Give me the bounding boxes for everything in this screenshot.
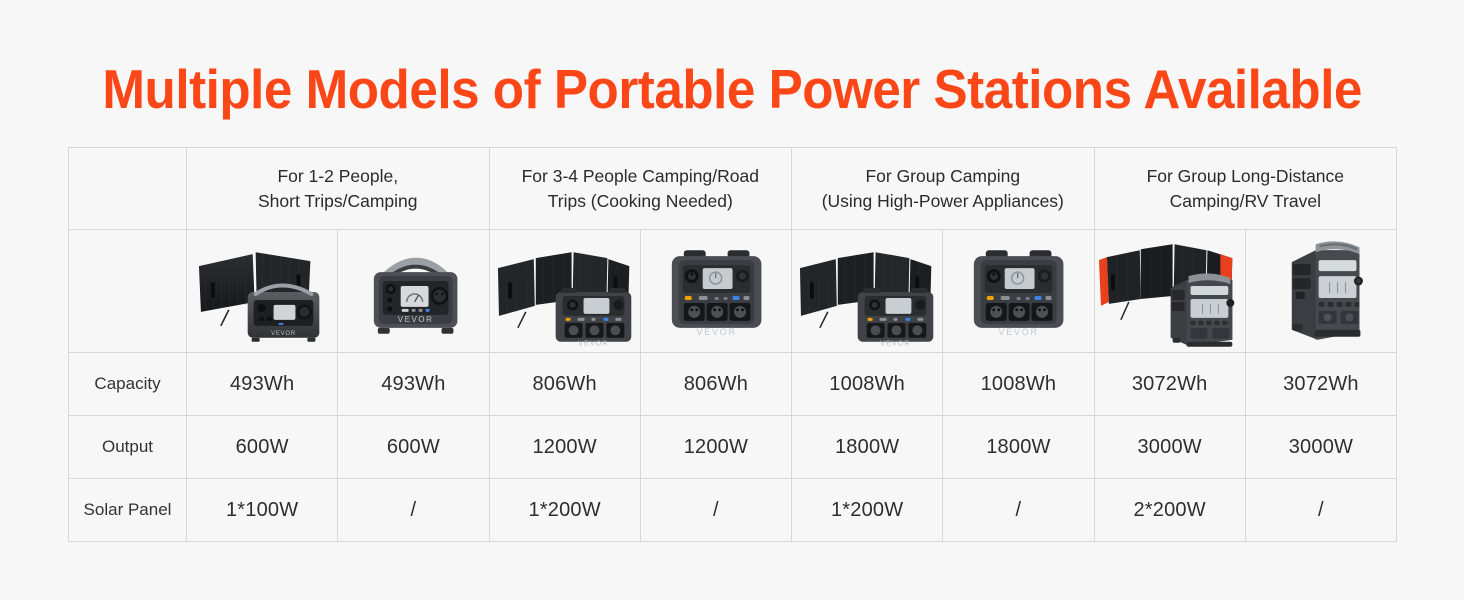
product-image-row: VEVOR — [69, 230, 1397, 353]
small-station-icon: VEVOR — [338, 230, 488, 352]
usecase-line2: Trips (Cooking Needed) — [498, 189, 784, 214]
orange-panel-and-large-station-icon — [1095, 230, 1245, 352]
solar-value-4: / — [640, 479, 791, 542]
row-label-capacity: Capacity — [69, 353, 187, 416]
product-image-1: VEVOR — [187, 230, 338, 353]
capacity-value-6: 1008Wh — [943, 353, 1094, 416]
product-image-2: VEVOR — [338, 230, 489, 353]
capacity-value-4: 806Wh — [640, 353, 791, 416]
usecase-line2: Camping/RV Travel — [1103, 189, 1389, 214]
solar-panel-row: Solar Panel 1*100W / 1*200W / 1*200W / 2… — [69, 479, 1397, 542]
mid-station-icon-2: VEVOR — [943, 230, 1093, 352]
capacity-value-1: 493Wh — [187, 353, 338, 416]
mid-station-icon: VEVOR — [641, 230, 791, 352]
usecase-line1: For 3-4 People Camping/Road — [522, 166, 759, 186]
output-row: Output 600W 600W 1200W 1200W 1800W 1800W… — [69, 416, 1397, 479]
svg-text:VEVOR: VEVOR — [578, 341, 608, 348]
output-value-5: 1800W — [792, 416, 943, 479]
solar-value-3: 1*200W — [489, 479, 640, 542]
usecase-cell-4: For Group Long-Distance Camping/RV Trave… — [1094, 148, 1397, 230]
usecase-cell-3: For Group Camping (Using High-Power Appl… — [792, 148, 1095, 230]
spec-table: For 1-2 People, Short Trips/Camping For … — [68, 147, 1397, 542]
output-value-7: 3000W — [1094, 416, 1245, 479]
svg-text:VEVOR: VEVOR — [696, 327, 736, 337]
usecase-line1: For Group Camping — [865, 166, 1020, 186]
capacity-value-2: 493Wh — [338, 353, 489, 416]
capacity-value-3: 806Wh — [489, 353, 640, 416]
solar-value-7: 2*200W — [1094, 479, 1245, 542]
solar-value-5: 1*200W — [792, 479, 943, 542]
product-image-4: VEVOR — [640, 230, 791, 353]
page-title: Multiple Models of Portable Power Statio… — [102, 58, 1362, 120]
usecase-line1: For Group Long-Distance — [1147, 166, 1344, 186]
output-value-3: 1200W — [489, 416, 640, 479]
row-label-output: Output — [69, 416, 187, 479]
table-corner-cell-2 — [69, 230, 187, 353]
svg-text:VEVOR: VEVOR — [880, 341, 910, 348]
solar-value-8: / — [1245, 479, 1396, 542]
product-image-8 — [1245, 230, 1396, 353]
svg-text:VEVOR: VEVOR — [398, 315, 434, 324]
panel-and-mid-station-icon: VEVOR — [490, 230, 640, 352]
solar-value-6: / — [943, 479, 1094, 542]
usecase-cell-1: For 1-2 People, Short Trips/Camping — [187, 148, 490, 230]
capacity-value-5: 1008Wh — [792, 353, 943, 416]
capacity-row: Capacity 493Wh 493Wh 806Wh 806Wh 1008Wh … — [69, 353, 1397, 416]
output-value-8: 3000W — [1245, 416, 1396, 479]
output-value-4: 1200W — [640, 416, 791, 479]
table-corner-cell — [69, 148, 187, 230]
capacity-value-8: 3072Wh — [1245, 353, 1396, 416]
product-image-5: VEVOR — [792, 230, 943, 353]
output-value-2: 600W — [338, 416, 489, 479]
usecase-cell-2: For 3-4 People Camping/Road Trips (Cooki… — [489, 148, 792, 230]
product-image-7 — [1094, 230, 1245, 353]
solar-value-2: / — [338, 479, 489, 542]
panel-and-mid-station-icon-2: VEVOR — [792, 230, 942, 352]
large-station-icon — [1246, 230, 1396, 352]
svg-text:VEVOR: VEVOR — [271, 331, 296, 337]
product-image-3: VEVOR — [489, 230, 640, 353]
usecase-header-row: For 1-2 People, Short Trips/Camping For … — [69, 148, 1397, 230]
capacity-value-7: 3072Wh — [1094, 353, 1245, 416]
promo-page: Multiple Models of Portable Power Statio… — [0, 0, 1464, 600]
spec-table-wrapper: For 1-2 People, Short Trips/Camping For … — [68, 147, 1396, 542]
row-label-solar-panel: Solar Panel — [69, 479, 187, 542]
solar-value-1: 1*100W — [187, 479, 338, 542]
output-value-1: 600W — [187, 416, 338, 479]
svg-text:VEVOR: VEVOR — [999, 327, 1039, 337]
panel-and-small-station-icon: VEVOR — [187, 230, 337, 352]
usecase-line2: Short Trips/Camping — [195, 189, 481, 214]
product-image-6: VEVOR — [943, 230, 1094, 353]
output-value-6: 1800W — [943, 416, 1094, 479]
usecase-line1: For 1-2 People, — [277, 166, 398, 186]
usecase-line2: (Using High-Power Appliances) — [800, 189, 1086, 214]
